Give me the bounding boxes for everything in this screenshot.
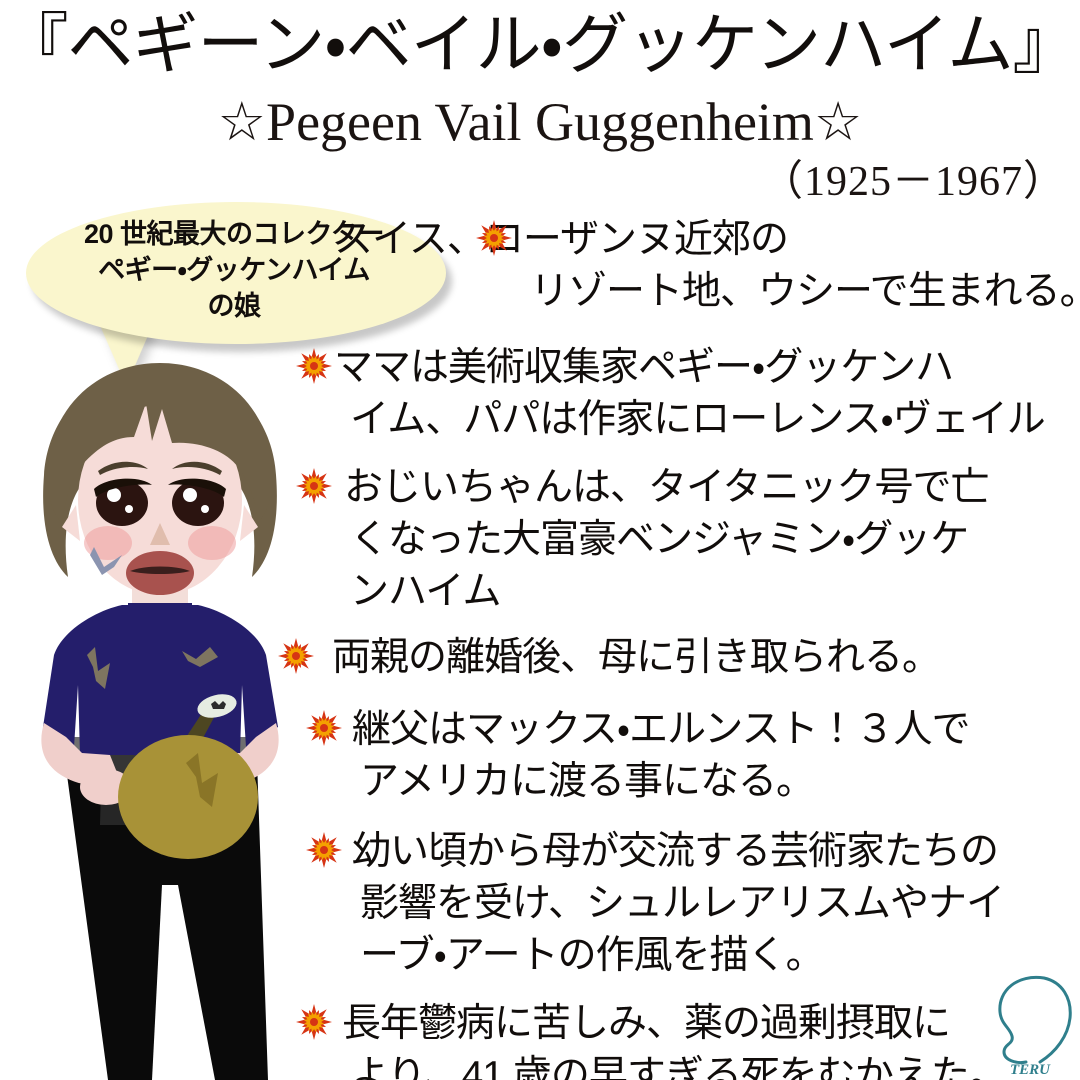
list-item-label: スイス、ローザンヌ近郊の リゾート地、ウシーで生まれる。 [530, 214, 1080, 318]
pegeen-vail-guggenheim-illustration [10, 355, 310, 1080]
list-item: 継父はマックス・エルンスト！３人で アメリカに渡る事になる。 [304, 704, 1080, 808]
starburst-icon [304, 830, 348, 874]
list-item: 幼い頃から母が交流する芸術家たちの 影響を受け、シュルレアリスムやナイ ーブ・ア… [304, 826, 1080, 982]
list-item-label: 両親の離婚後、母に引き取られる。 [332, 632, 1080, 684]
bag-shape [118, 735, 258, 859]
teru-watermark: TERU [982, 970, 1078, 1078]
list-item-label: 継父はマックス・エルンスト！３人で アメリカに渡る事になる。 [360, 704, 1080, 808]
life-dates: （1925－1967） [761, 158, 1066, 206]
turtleneck-shape [128, 603, 192, 627]
list-item-label: 長年鬱病に苦しみ、薬の過剰摂取に より、41 歳の早すぎる死をむかえた。 [350, 998, 1080, 1080]
face-profile-icon [1000, 977, 1070, 1062]
watermark-label: TERU [1010, 1062, 1051, 1078]
list-item-label: おじいちゃんは、タイタニック号で亡 くなった大富豪ベンジャミン・グッケ ンハイム [350, 462, 1080, 618]
page-title-english: ☆Pegeen Vail Guggenheim☆ [0, 92, 1080, 152]
right-blush [188, 526, 236, 560]
list-item: 長年鬱病に苦しみ、薬の過剰摂取に より、41 歳の早すぎる死をむかえた。 [294, 998, 1080, 1080]
starburst-icon [304, 708, 348, 752]
list-item-label: 幼い頃から母が交流する芸術家たちの 影響を受け、シュルレアリスムやナイ ーブ・ア… [360, 826, 1080, 982]
list-item: 両親の離婚後、母に引き取られる。 [276, 632, 1080, 684]
poster-root: 『ペギーン・ベイル・グッケンハイム』 ☆Pegeen Vail Guggenhe… [0, 0, 1080, 1080]
list-item: おじいちゃんは、タイタニック号で亡 くなった大富豪ベンジャミン・グッケ ンハイム [294, 462, 1080, 618]
list-item: ママは美術収集家ペギー・グッケンハ イム、パパは作家にローレンス・ヴェイル [294, 342, 1080, 446]
sweater-shape [43, 605, 278, 755]
starburst-icon [474, 218, 518, 262]
page-title-japanese: 『ペギーン・ベイル・グッケンハイム』 [0, 6, 1080, 86]
biography-bullet-list: スイス、ローザンヌ近郊の リゾート地、ウシーで生まれる。 ママは美術収集家ペギー… [276, 214, 1080, 1080]
list-item-label: ママは美術収集家ペギー・グッケンハ イム、パパは作家にローレンス・ヴェイル [350, 342, 1080, 446]
list-item: スイス、ローザンヌ近郊の リゾート地、ウシーで生まれる。 [474, 214, 1080, 318]
